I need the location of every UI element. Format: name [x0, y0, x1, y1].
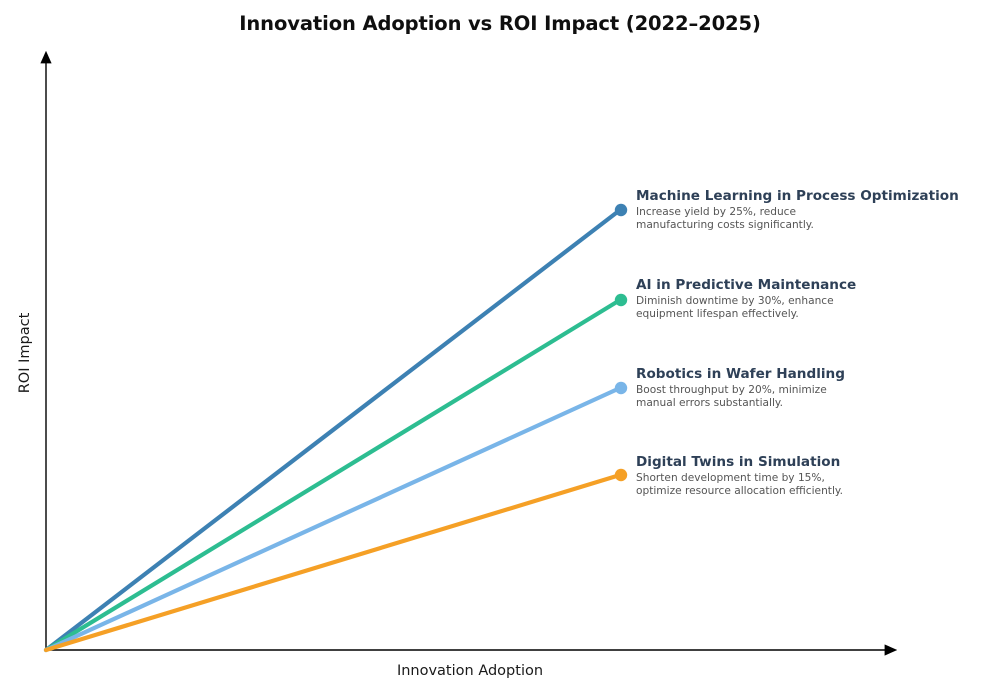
- series-annotation-1: Machine Learning in Process Optimization…: [636, 188, 988, 231]
- series-line-4: [46, 475, 620, 650]
- y-axis-label: ROI Impact: [17, 273, 33, 433]
- series-annotation-title-4: Digital Twins in Simulation: [636, 454, 988, 470]
- series-line-1: [46, 210, 620, 650]
- series-annotation-desc-1: Increase yield by 25%, reduce manufactur…: [636, 206, 848, 231]
- series-endpoint-marker-3[interactable]: [615, 382, 627, 394]
- series-line-2: [46, 300, 620, 650]
- series-endpoint-marker-4[interactable]: [615, 469, 627, 481]
- series-annotation-3: Robotics in Wafer Handling Boost through…: [636, 366, 988, 409]
- chart-canvas: Innovation Adoption vs ROI Impact (2022–…: [0, 0, 1000, 700]
- series-annotation-title-1: Machine Learning in Process Optimization: [636, 188, 988, 204]
- series-annotation-desc-3: Boost throughput by 20%, minimize manual…: [636, 384, 848, 409]
- series-annotation-2: AI in Predictive Maintenance Diminish do…: [636, 277, 988, 320]
- series-annotation-title-3: Robotics in Wafer Handling: [636, 366, 988, 382]
- series-annotation-desc-2: Diminish downtime by 30%, enhance equipm…: [636, 295, 848, 320]
- series-annotation-4: Digital Twins in Simulation Shorten deve…: [636, 454, 988, 497]
- series-endpoint-marker-2[interactable]: [615, 294, 627, 306]
- series-line-3: [46, 388, 620, 650]
- series-endpoint-marker-1[interactable]: [615, 204, 627, 216]
- series-annotation-title-2: AI in Predictive Maintenance: [636, 277, 988, 293]
- series-annotation-desc-4: Shorten development time by 15%, optimiz…: [636, 472, 848, 497]
- plot-area: [0, 0, 1000, 700]
- x-axis-label: Innovation Adoption: [0, 663, 940, 679]
